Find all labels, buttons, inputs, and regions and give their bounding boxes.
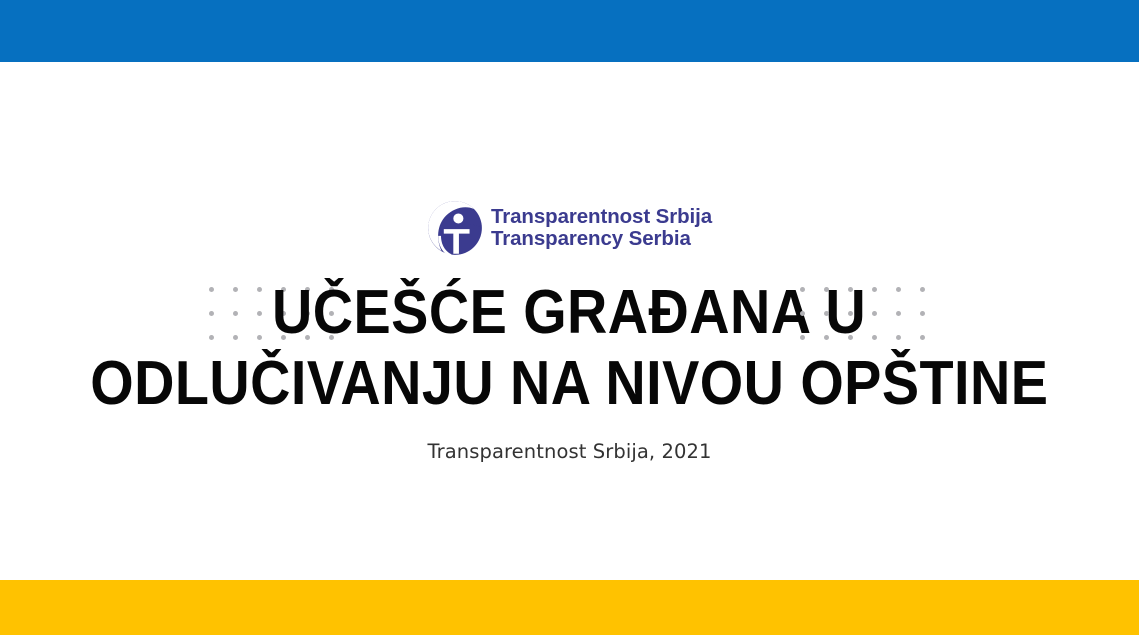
dot [209, 335, 214, 340]
dot [872, 335, 877, 340]
dot [896, 335, 901, 340]
dot [209, 287, 214, 292]
slide-content: Transparentnost Srbija Transparency Serb… [0, 62, 1139, 580]
title-line-2-row: ODLUČIVANJU NA NIVOU OPŠTINE [0, 350, 1139, 418]
dot [257, 287, 262, 292]
dot [896, 311, 901, 316]
title-block: UČEŠĆE GRAĐANA U [0, 280, 1139, 418]
dot [872, 287, 877, 292]
top-accent-band [0, 0, 1139, 62]
dot [920, 287, 925, 292]
dot [920, 311, 925, 316]
title-line-1-row: UČEŠĆE GRAĐANA U [0, 280, 1139, 346]
dot [257, 311, 262, 316]
dot [257, 335, 262, 340]
dot [209, 311, 214, 316]
bottom-accent-band [0, 580, 1139, 635]
globe-figure-icon [427, 200, 483, 256]
dot [920, 335, 925, 340]
dot [896, 287, 901, 292]
logo-wordmark: Transparentnost Srbija Transparency Serb… [491, 206, 712, 249]
dot [872, 311, 877, 316]
logo-line-serbian: Transparentnost Srbija [491, 206, 712, 228]
organization-logo: Transparentnost Srbija Transparency Serb… [427, 200, 712, 256]
dot [233, 311, 238, 316]
dot [233, 287, 238, 292]
title-line-2: ODLUČIVANJU NA NIVOU OPŠTINE [90, 353, 1048, 415]
logo-line-english: Transparency Serbia [491, 228, 712, 250]
title-line-1: UČEŠĆE GRAĐANA U [272, 282, 866, 344]
title-slide: Transparentnost Srbija Transparency Serb… [0, 0, 1139, 635]
dot [233, 335, 238, 340]
subtitle: Transparentnost Srbija, 2021 [427, 440, 711, 463]
